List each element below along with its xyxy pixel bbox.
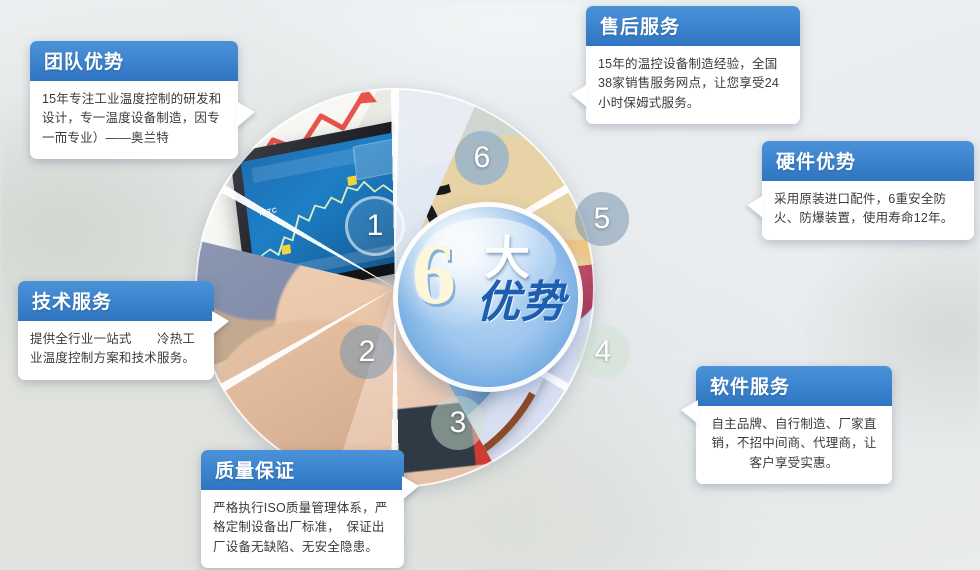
callout-tail xyxy=(236,101,255,128)
screen-header-bar xyxy=(252,148,356,183)
marker-5[interactable]: 5 xyxy=(575,192,629,246)
callout-tail xyxy=(681,400,698,424)
callout-tail xyxy=(571,84,588,108)
callout-title: 技术服务 xyxy=(32,292,112,313)
center-badge[interactable]: 6 大 优势 xyxy=(398,207,578,387)
callout-title: 售后服务 xyxy=(600,17,680,38)
callout-title: 软件服务 xyxy=(710,377,790,398)
callout-title: 硬件优势 xyxy=(776,152,856,173)
callout-header: 售后服务 xyxy=(586,6,800,46)
chart-marker-low xyxy=(281,244,291,255)
callout-title: 质量保证 xyxy=(215,461,295,482)
callout-body: 采用原装进口配件，6重安全防火、防爆装置，使用寿命12年。 xyxy=(762,181,974,240)
callout-body: 提供全行业一站式 冷热工业温度控制方案和技术服务。 xyxy=(18,321,214,380)
callout-body: 15年的温控设备制造经验，全国38家销售服务网点，让您享受24小时保姆式服务。 xyxy=(586,46,800,124)
marker-4[interactable]: 4 xyxy=(576,325,630,379)
marker-1[interactable]: 1 xyxy=(345,196,405,256)
callout-quality-assurance[interactable]: 质量保证 严格执行ISO质量管理体系，严格定制设备出厂标准， 保证出厂设备无缺陷… xyxy=(201,450,404,568)
marker-6-label: 6 xyxy=(474,141,491,175)
callout-body: 严格执行ISO质量管理体系，严格定制设备出厂标准， 保证出厂设备无缺陷、无安全隐… xyxy=(201,490,404,568)
marker-3-label: 3 xyxy=(450,406,467,440)
callout-tail xyxy=(212,311,229,335)
callout-header: 团队优势 xyxy=(30,41,238,81)
callout-software-service[interactable]: 软件服务 自主品牌、自行制造、厂家直销，不招中间商、代理商，让客户享受实惠。 xyxy=(696,366,892,484)
callout-team-advantage[interactable]: 团队优势 15年专注工业温度控制的研发和设计，专一温度设备制造，因专一而专业）—… xyxy=(30,41,238,159)
callout-tail xyxy=(402,476,419,500)
marker-2-label: 2 xyxy=(359,335,376,369)
callout-hardware-advantage[interactable]: 硬件优势 采用原装进口配件，6重安全防火、防爆装置，使用寿命12年。 xyxy=(762,141,974,240)
callout-header: 软件服务 xyxy=(696,366,892,406)
callout-body: 15年专注工业温度控制的研发和设计，专一温度设备制造，因专一而专业）——奥兰特 xyxy=(30,81,238,159)
marker-1-label: 1 xyxy=(367,209,384,243)
marker-2[interactable]: 2 xyxy=(340,325,394,379)
callout-header: 技术服务 xyxy=(18,281,214,321)
marker-3[interactable]: 3 xyxy=(431,396,485,450)
badge-big-char: 大 xyxy=(484,235,530,281)
callout-after-sales[interactable]: 售后服务 15年的温控设备制造经验，全国38家销售服务网点，让您享受24小时保姆… xyxy=(586,6,800,124)
marker-4-label: 4 xyxy=(595,335,612,369)
callout-header: 硬件优势 xyxy=(762,141,974,181)
chart-marker-high xyxy=(347,175,357,186)
callout-body: 自主品牌、自行制造、厂家直销，不招中间商、代理商，让客户享受实惠。 xyxy=(696,406,892,484)
infographic-canvas: INTC xyxy=(0,0,980,570)
marker-6[interactable]: 6 xyxy=(455,131,509,185)
marker-5-label: 5 xyxy=(594,202,611,236)
badge-script-text: 优势 xyxy=(476,281,566,325)
callout-technical-service[interactable]: 技术服务 提供全行业一站式 冷热工业温度控制方案和技术服务。 xyxy=(18,281,214,380)
badge-number: 6 xyxy=(412,231,456,319)
callout-title: 团队优势 xyxy=(44,52,124,73)
callout-header: 质量保证 xyxy=(201,450,404,490)
callout-tail xyxy=(747,195,764,219)
